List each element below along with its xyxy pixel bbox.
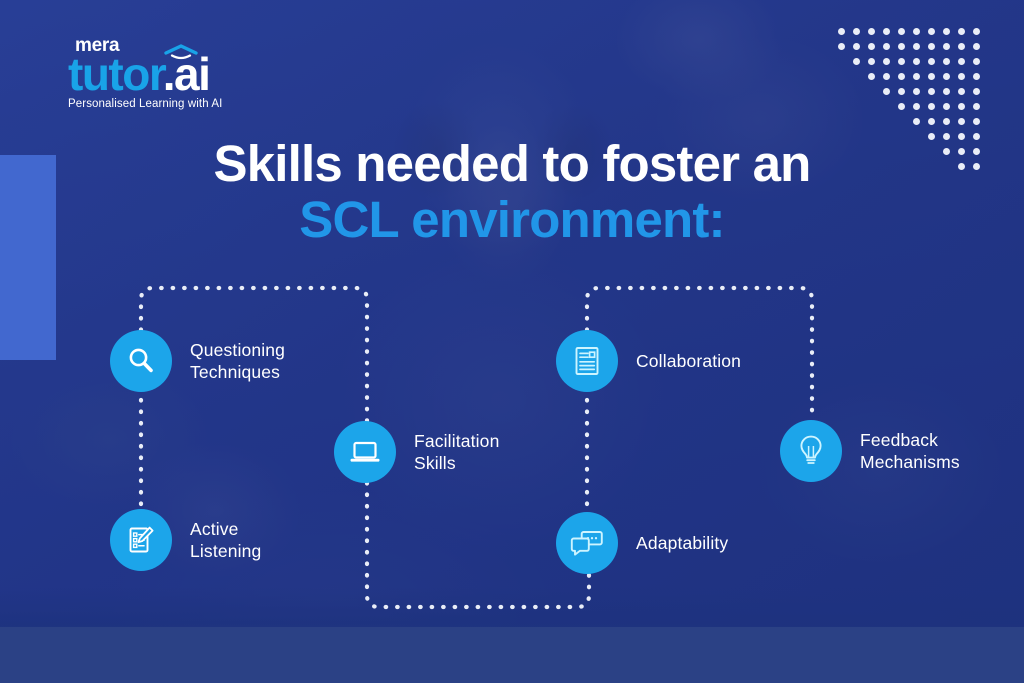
skill-label-feedback: Feedback Mechanisms [860,429,960,474]
skill-label-active-listening: Active Listening [190,518,261,563]
chat-bubbles-icon [570,528,604,558]
infographic-poster: mera tutor.ai Personalised Learning with… [0,0,1024,683]
skill-label-collaboration: Collaboration [636,350,741,372]
skill-badge-feedback [780,420,842,482]
laptop-icon [348,436,382,468]
skill-node-active-listening[interactable]: Active Listening [110,509,261,571]
skill-badge-questioning [110,330,172,392]
skill-badge-collaboration [556,330,618,392]
skill-node-collaboration[interactable]: Collaboration [556,330,741,392]
skill-node-facilitation[interactable]: Facilitation Skills [334,421,499,483]
document-icon [572,345,602,377]
skill-label-facilitation: Facilitation Skills [414,430,499,475]
magnifier-icon [125,345,157,377]
skill-node-questioning[interactable]: Questioning Techniques [110,330,285,392]
skill-badge-adaptability [556,512,618,574]
skill-badge-facilitation [334,421,396,483]
skill-node-feedback[interactable]: Feedback Mechanisms [780,420,960,482]
skill-label-adaptability: Adaptability [636,532,728,554]
skill-label-questioning: Questioning Techniques [190,339,285,384]
checklist-pen-icon [125,524,157,556]
skill-node-adaptability[interactable]: Adaptability [556,512,728,574]
lightbulb-icon [797,434,825,468]
skill-badge-active-listening [110,509,172,571]
